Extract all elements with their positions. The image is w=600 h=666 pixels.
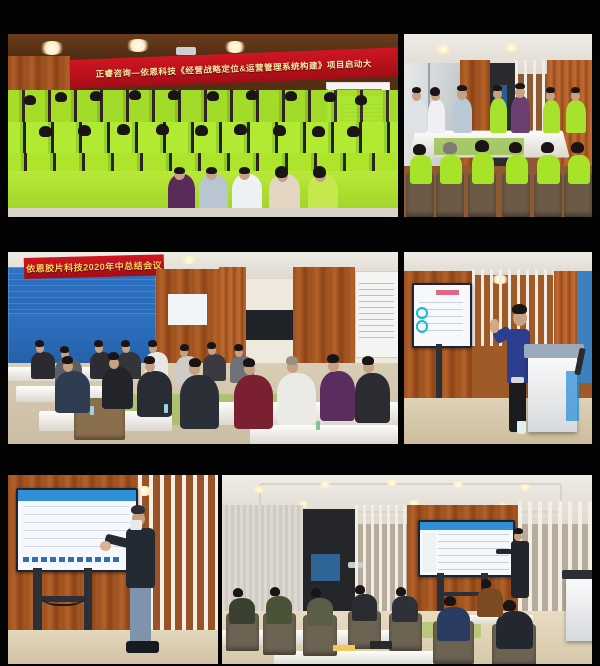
photo-midyear-summary[interactable]: 依恩胶片科技2020年中总结会议 [8, 252, 398, 444]
face-mask [130, 520, 143, 529]
presenter-hand [490, 319, 499, 332]
meeting-banner: 依恩胶片科技2020年中总结会议 [23, 254, 164, 279]
presenter-belt [511, 377, 524, 383]
floor [8, 630, 218, 664]
photo-collage: 正睿咨询—依恩科技《经营战略定位&运营管理系统构建》项目启动大 [0, 0, 600, 666]
ceiling-light [385, 479, 399, 486]
training-room-scene [222, 475, 592, 664]
ceiling-light [434, 45, 452, 54]
podium-top [562, 570, 592, 579]
presenter-hair [512, 304, 527, 314]
power-cable [42, 585, 84, 606]
water-bottle [164, 404, 168, 413]
projector [176, 47, 196, 55]
display-stand-column [33, 568, 41, 640]
presenter-legs [130, 585, 151, 645]
photo-whiteboard-presentation[interactable] [8, 475, 218, 664]
photo-group-kickoff[interactable]: 正睿咨询—依恩科技《经营战略定位&运营管理系统构建》项目启动大 [8, 34, 398, 217]
midyear-scene: 依恩胶片科技2020年中总结会议 [8, 252, 398, 444]
wood-wall-3 [293, 267, 355, 375]
screen-document-lines [23, 506, 129, 552]
equipment-nook [246, 310, 293, 341]
laptop-on-table [370, 641, 392, 649]
whiteboard-scene [8, 475, 218, 664]
alcove-monitor [311, 554, 341, 580]
touch-display[interactable] [16, 488, 138, 571]
presenter-hair [131, 505, 145, 514]
water-cup [517, 421, 526, 434]
presenter-hair [514, 528, 523, 534]
screen-slide-title [436, 290, 459, 295]
desk-row [250, 425, 398, 444]
presenter-torso [126, 528, 155, 588]
display-stand-column [84, 568, 92, 640]
display-screen[interactable] [412, 283, 472, 348]
photo-speaker-podium[interactable] [404, 252, 592, 444]
group-photo-scene: 正睿咨询—依恩科技《经营战略定位&运营管理系统构建》项目启动大 [8, 34, 398, 217]
screen-sidebar [423, 533, 436, 572]
ceiling-light [318, 481, 332, 488]
window-bright [168, 294, 207, 325]
screen-icon-teal [416, 320, 428, 333]
ceiling-light [223, 41, 247, 53]
screen-titlebar [18, 490, 136, 501]
presenter-arm [496, 549, 518, 555]
paper-on-table [333, 645, 355, 651]
screen-icon-teal [416, 307, 428, 320]
ceiling-light [502, 43, 520, 52]
screen-stand [436, 344, 442, 402]
flipchart-lines [359, 283, 394, 341]
screen-highlight-row [23, 557, 122, 562]
podium [566, 577, 592, 641]
water-bottle [316, 421, 320, 430]
crowd [8, 82, 398, 217]
ceiling-light [180, 256, 198, 264]
photo-boardroom-meeting[interactable] [404, 34, 592, 217]
pointer-hand [100, 541, 111, 550]
screen-titlebar [420, 522, 513, 529]
podium-top [524, 344, 584, 357]
meeting-banner-text: 依恩胶片科技2020年中总结会议 [26, 258, 162, 275]
event-banner-text: 正睿咨询—依恩科技《经营战略定位&运营管理系统构建》项目启动大 [96, 57, 373, 80]
boardroom-scene [404, 34, 592, 217]
photo-training-room-wide[interactable] [222, 475, 592, 664]
podium-front-panel [566, 371, 579, 421]
ceiling-light [451, 481, 465, 488]
water-bottle [90, 406, 94, 415]
presenter-shoes [126, 641, 160, 652]
speaker-scene [404, 252, 592, 444]
